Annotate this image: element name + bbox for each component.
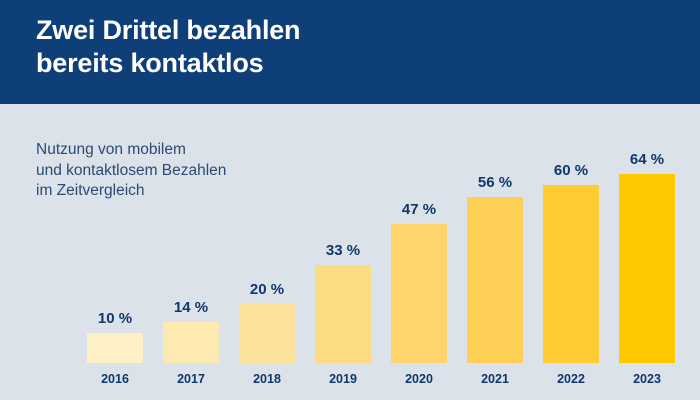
- bar-group-2021: 56 %2021: [457, 0, 533, 400]
- bar-group-2018: 20 %2018: [229, 0, 305, 400]
- bar-2017: [163, 322, 219, 363]
- axis-tick-label-2021: 2021: [457, 372, 533, 386]
- bar-value-label-2021: 56 %: [457, 174, 533, 191]
- bar-value-label-2019: 33 %: [305, 242, 381, 259]
- bar-2020: [391, 224, 447, 363]
- bar-value-label-2016: 10 %: [77, 310, 153, 327]
- bar-2016: [87, 333, 143, 363]
- bar-group-2023: 64 %2023: [609, 0, 685, 400]
- axis-tick-label-2022: 2022: [533, 372, 609, 386]
- bar-group-2022: 60 %2022: [533, 0, 609, 400]
- axis-tick-label-2019: 2019: [305, 372, 381, 386]
- bar-value-label-2022: 60 %: [533, 162, 609, 179]
- bar-group-2019: 33 %2019: [305, 0, 381, 400]
- bar-value-label-2023: 64 %: [609, 151, 685, 168]
- bar-2021: [467, 197, 523, 363]
- bar-chart-plot-area: 10 %201614 %201720 %201833 %201947 %2020…: [0, 0, 700, 400]
- bar-2022: [543, 185, 599, 363]
- bar-2019: [315, 265, 371, 363]
- bar-2023: [619, 174, 675, 363]
- bar-group-2016: 10 %2016: [77, 0, 153, 400]
- axis-tick-label-2018: 2018: [229, 372, 305, 386]
- axis-tick-label-2023: 2023: [609, 372, 685, 386]
- bar-group-2017: 14 %2017: [153, 0, 229, 400]
- axis-tick-label-2020: 2020: [381, 372, 457, 386]
- bar-group-2020: 47 %2020: [381, 0, 457, 400]
- bar-value-label-2017: 14 %: [153, 299, 229, 316]
- bar-value-label-2020: 47 %: [381, 201, 457, 218]
- bar-2018: [239, 304, 295, 363]
- bar-value-label-2018: 20 %: [229, 281, 305, 298]
- axis-tick-label-2017: 2017: [153, 372, 229, 386]
- axis-tick-label-2016: 2016: [77, 372, 153, 386]
